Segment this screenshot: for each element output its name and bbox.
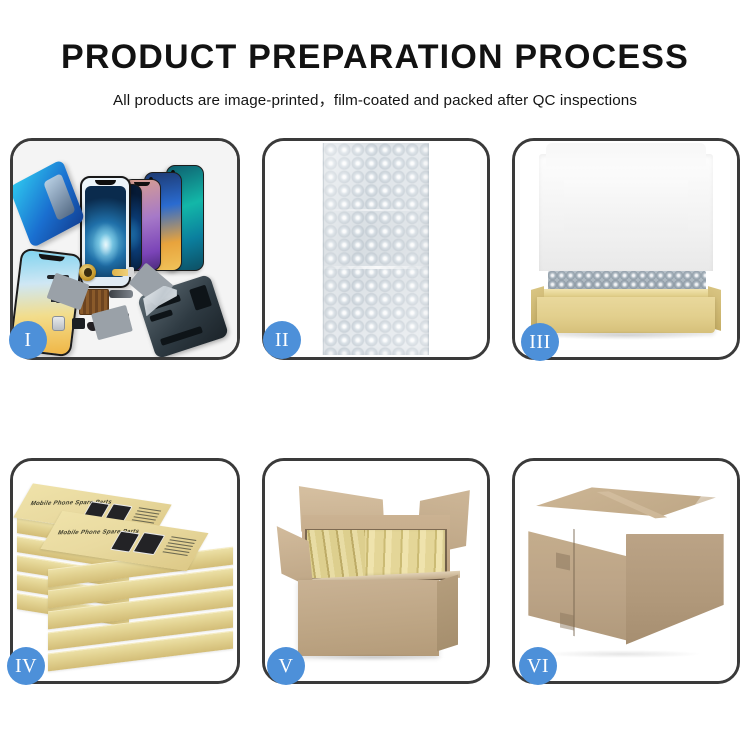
spare-parts-group (44, 262, 174, 353)
step-1-illustration (13, 141, 237, 357)
step-badge-1: I (9, 321, 47, 359)
product-preparation-infographic: PRODUCT PREPARATION PROCESS All products… (0, 0, 750, 750)
process-step-grid: I II (0, 0, 750, 750)
open-carton-icon (281, 487, 472, 659)
step-badge-2: II (263, 321, 301, 359)
process-step-3: III (512, 138, 740, 360)
drop-shadow (544, 650, 700, 658)
foam-lid-icon (539, 154, 712, 271)
sim-tray-icon (52, 316, 64, 331)
bubble-wrap-icon (323, 143, 429, 355)
drop-shadow (303, 654, 444, 661)
process-step-1: I (10, 138, 240, 360)
step-4-illustration: Mobile Phone Spare Parts (13, 461, 237, 681)
step-5-illustration (265, 461, 487, 681)
carton-left-face (528, 524, 630, 641)
step-badge-3: III (521, 323, 559, 361)
vibration-motor-icon (79, 264, 96, 281)
flex-cable-gold-icon (112, 269, 133, 275)
carton-tab (560, 613, 574, 631)
step-badge-4: IV (7, 647, 45, 685)
process-step-4: Mobile Phone Spare Parts (10, 458, 240, 684)
packed-retail-boxes-icon (307, 530, 364, 578)
carton-right-face (626, 534, 724, 644)
box-spec-lines (162, 537, 197, 559)
process-step-2: II (262, 138, 490, 360)
loudspeaker-icon (72, 318, 85, 329)
process-step-5: V (262, 458, 490, 684)
flex-cable-grey-icon (109, 290, 132, 298)
retail-box-stack-icon: Mobile Phone Spare Parts (17, 481, 232, 670)
step-badge-5: V (267, 647, 305, 685)
carton-side-wall (437, 575, 458, 652)
step-6-illustration (515, 461, 737, 681)
process-step-6: VI (512, 458, 740, 684)
sealed-carton-icon (528, 487, 723, 654)
drop-shadow (546, 331, 706, 340)
retail-box-front: Mobile Phone Spare Parts (45, 522, 204, 560)
step-badge-6: VI (519, 647, 557, 685)
carton-tab (556, 553, 570, 571)
step-2-illustration (265, 141, 487, 357)
kraft-box-front-icon (537, 297, 715, 334)
carton-front-wall (298, 580, 439, 656)
screws-group-icon (44, 262, 65, 271)
